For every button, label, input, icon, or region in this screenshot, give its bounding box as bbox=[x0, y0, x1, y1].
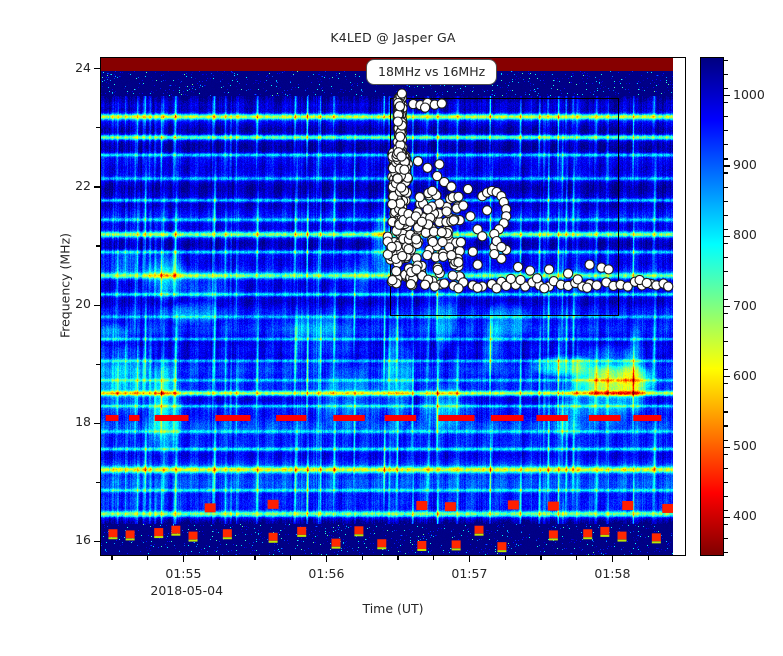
colorbar-tick-400 bbox=[724, 517, 730, 518]
x-minor-tick bbox=[576, 556, 577, 560]
x-minor-tick bbox=[648, 556, 649, 560]
colorbar-minor-tick bbox=[724, 496, 728, 497]
x-tick-label-01:58: 01:58 bbox=[594, 566, 630, 581]
colorbar-minor-tick bbox=[724, 172, 728, 173]
y-tick-24 bbox=[94, 68, 100, 69]
x-tick-label-01:57: 01:57 bbox=[451, 566, 487, 581]
colorbar-gradient bbox=[701, 58, 723, 555]
colorbar-minor-tick bbox=[724, 158, 728, 159]
colorbar-minor-tick bbox=[724, 243, 728, 244]
y-axis-label: Frequency (MHz) bbox=[58, 186, 73, 386]
y-tick-label-16: 16 bbox=[75, 532, 91, 547]
colorbar-minor-tick bbox=[724, 313, 728, 314]
y-tick-label-18: 18 bbox=[75, 414, 91, 429]
colorbar-minor-tick bbox=[724, 116, 728, 117]
main-plot-area[interactable] bbox=[100, 57, 686, 556]
colorbar-minor-tick bbox=[724, 355, 728, 356]
colorbar-tick-600 bbox=[724, 376, 730, 377]
x-minor-tick bbox=[290, 556, 291, 560]
annotation-label: 18MHz vs 16MHz bbox=[366, 59, 497, 85]
colorbar-minor-tick bbox=[724, 257, 728, 258]
x-minor-tick bbox=[111, 556, 112, 560]
colorbar-minor-tick bbox=[724, 102, 728, 103]
figure-canvas: K4LED @ Jasper GA Frequency (MHz) 18MHz … bbox=[0, 0, 783, 656]
x-minor-tick bbox=[219, 556, 220, 560]
colorbar-minor-tick bbox=[724, 299, 728, 300]
colorbar-tick-500 bbox=[724, 447, 730, 448]
x-tick-01:55 bbox=[183, 556, 184, 562]
colorbar-minor-tick bbox=[724, 397, 728, 398]
x-minor-tick bbox=[397, 556, 398, 560]
colorbar-tick-700 bbox=[724, 306, 730, 307]
x-tick-label-01:56: 01:56 bbox=[308, 566, 344, 581]
colorbar-minor-tick bbox=[724, 454, 728, 455]
colorbar-minor-tick bbox=[724, 88, 728, 89]
colorbar-minor-tick bbox=[724, 369, 728, 370]
colorbar-tick-800 bbox=[724, 236, 730, 237]
colorbar-minor-tick bbox=[724, 144, 728, 145]
y-minor-tick-21 bbox=[96, 245, 100, 246]
colorbar-minor-tick bbox=[724, 482, 728, 483]
y-tick-label-24: 24 bbox=[75, 60, 91, 75]
x-tick-01:56 bbox=[326, 556, 327, 562]
x-minor-tick bbox=[433, 556, 434, 560]
colorbar-minor-tick bbox=[724, 187, 728, 188]
colorbar-tick-label-700: 700 bbox=[733, 298, 757, 313]
y-minor-tick-23 bbox=[96, 127, 100, 128]
y-tick-22 bbox=[94, 186, 100, 187]
colorbar-minor-tick bbox=[724, 383, 728, 384]
colorbar-minor-tick bbox=[724, 411, 728, 412]
x-minor-tick bbox=[254, 556, 255, 560]
x-minor-tick bbox=[540, 556, 541, 560]
colorbar-minor-tick bbox=[724, 341, 728, 342]
x-tick-01:57 bbox=[469, 556, 470, 562]
colorbar-minor-tick bbox=[724, 271, 728, 272]
colorbar-minor-tick bbox=[724, 425, 728, 426]
colorbar-minor-tick bbox=[724, 74, 728, 75]
colorbar-minor-tick bbox=[724, 440, 728, 441]
y-tick-label-22: 22 bbox=[75, 178, 91, 193]
colorbar-minor-tick bbox=[724, 215, 728, 216]
x-tick-01:58 bbox=[612, 556, 613, 562]
y-tick-20 bbox=[94, 305, 100, 306]
y-minor-tick-17 bbox=[96, 482, 100, 483]
x-minor-tick bbox=[505, 556, 506, 560]
colorbar-minor-tick bbox=[724, 524, 728, 525]
x-minor-tick bbox=[147, 556, 148, 560]
colorbar-minor-tick bbox=[724, 229, 728, 230]
colorbar-tick-label-800: 800 bbox=[733, 227, 757, 242]
colorbar-minor-tick bbox=[724, 201, 728, 202]
colorbar-minor-tick bbox=[724, 60, 728, 61]
colorbar-minor-tick bbox=[724, 510, 728, 511]
y-tick-16 bbox=[94, 541, 100, 542]
colorbar-tick-label-400: 400 bbox=[733, 508, 757, 523]
colorbar-minor-tick bbox=[724, 468, 728, 469]
colorbar-tick-900 bbox=[724, 165, 730, 166]
colorbar-tick-label-500: 500 bbox=[733, 438, 757, 453]
y-minor-tick-19 bbox=[96, 364, 100, 365]
colorbar-minor-tick bbox=[724, 130, 728, 131]
colorbar[interactable] bbox=[700, 57, 724, 556]
colorbar-minor-tick bbox=[724, 552, 728, 553]
y-tick-18 bbox=[94, 423, 100, 424]
page-title: K4LED @ Jasper GA bbox=[100, 30, 686, 45]
x-tick-label-01:55: 01:55 bbox=[165, 566, 201, 581]
x-axis-date-label: 2018-05-04 bbox=[150, 583, 223, 598]
y-tick-label-20: 20 bbox=[75, 296, 91, 311]
spectrogram-image bbox=[101, 58, 673, 555]
x-minor-tick bbox=[362, 556, 363, 560]
colorbar-minor-tick bbox=[724, 538, 728, 539]
colorbar-minor-tick bbox=[724, 285, 728, 286]
colorbar-tick-label-600: 600 bbox=[733, 368, 757, 383]
colorbar-minor-tick bbox=[724, 327, 728, 328]
colorbar-tick-1000 bbox=[724, 95, 730, 96]
colorbar-tick-label-900: 900 bbox=[733, 157, 757, 172]
colorbar-tick-label-1000: 1000 bbox=[733, 87, 765, 102]
x-axis-label: Time (UT) bbox=[100, 601, 686, 616]
